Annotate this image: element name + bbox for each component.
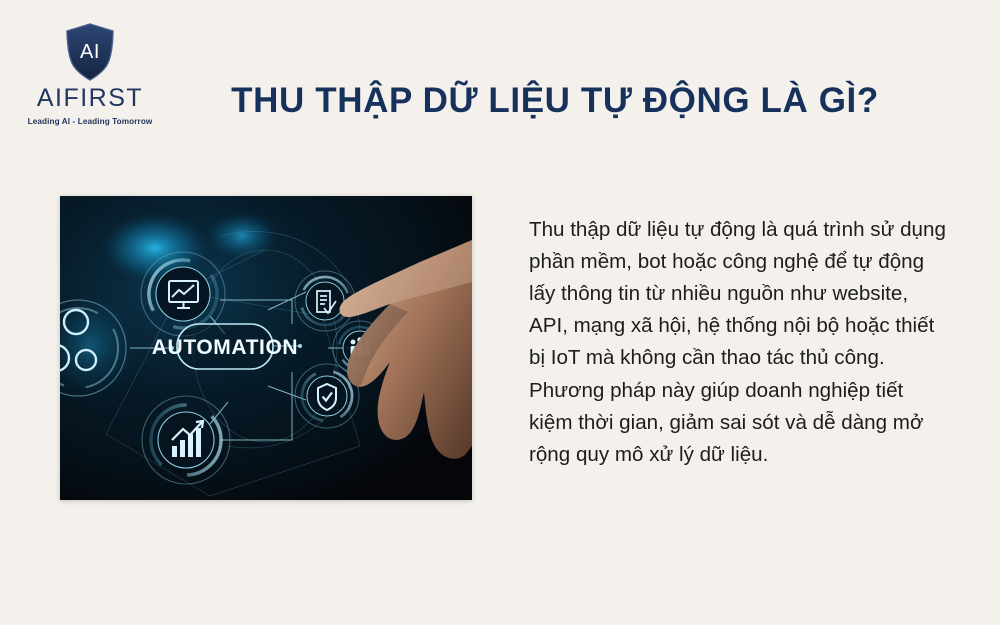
svg-text:AI: AI bbox=[80, 41, 100, 63]
brand-tagline: Leading AI - Leading Tomorrow bbox=[28, 117, 153, 126]
brand-logo: AI AIFIRST Leading AI - Leading Tomorrow bbox=[20, 22, 160, 132]
body-paragraph: Thu thập dữ liệu tự động là quá trình sử… bbox=[529, 214, 947, 472]
shield-ai-logo-icon: AI bbox=[63, 22, 117, 82]
brand-wordmark: AIFIRST bbox=[37, 84, 143, 113]
automation-illustration: AUTOMATION bbox=[60, 196, 472, 500]
page-title: THU THẬP DỮ LIỆU TỰ ĐỘNG LÀ GÌ? bbox=[160, 81, 950, 121]
svg-text:AUTOMATION: AUTOMATION bbox=[152, 336, 298, 359]
